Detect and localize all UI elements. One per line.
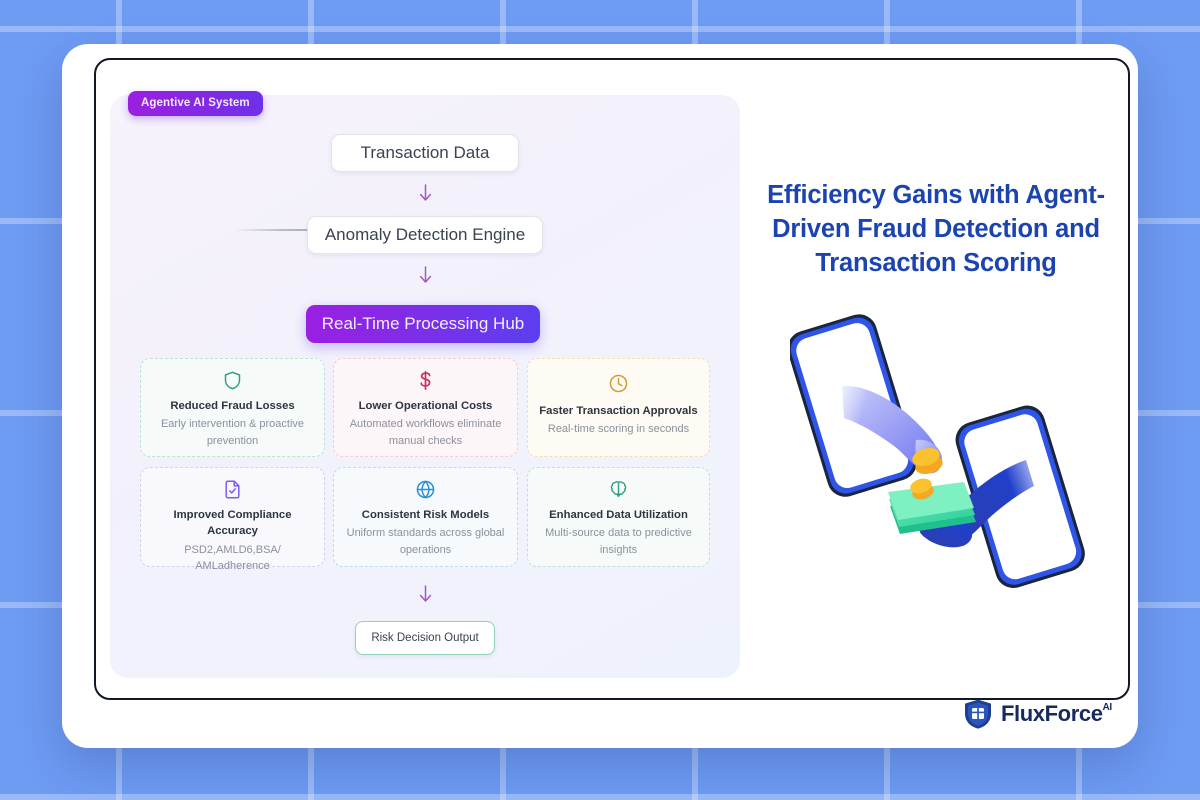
- benefit-card-desc: Automated workflows eliminate manual che…: [343, 416, 508, 449]
- dollar-icon: [415, 370, 436, 391]
- benefit-card-desc: Multi-source data to predictive insights: [537, 525, 700, 558]
- flow-node-label: Anomaly Detection Engine: [325, 225, 525, 245]
- flow-node-anomaly-detection-engine[interactable]: Anomaly Detection Engine: [307, 216, 543, 254]
- benefit-card-title: Reduced Fraud Losses: [170, 398, 294, 414]
- brain-icon: [608, 479, 629, 500]
- benefit-card-desc: Uniform standards across global operatio…: [343, 525, 508, 558]
- brand-superscript: AI: [1103, 702, 1112, 713]
- connector-line: [234, 229, 318, 231]
- benefit-card-enhanced-data-utilization[interactable]: Enhanced Data Utilization Multi-source d…: [527, 467, 710, 567]
- benefit-card-consistent-risk-models[interactable]: Consistent Risk Models Uniform standards…: [333, 467, 518, 567]
- globe-icon: [415, 479, 436, 500]
- arrow-down-icon-2: [415, 264, 435, 288]
- page-title: Efficiency Gains with Agent-Driven Fraud…: [748, 178, 1124, 280]
- shield-icon: [222, 370, 243, 391]
- benefit-card-title: Consistent Risk Models: [362, 507, 489, 523]
- brand-logo: FluxForce AI: [963, 698, 1112, 730]
- benefit-card-title: Lower Operational Costs: [359, 398, 493, 414]
- two-phones-hands-exchanging-money-illustration: [790, 300, 1090, 590]
- benefit-card-lower-operational-costs[interactable]: Lower Operational Costs Automated workfl…: [333, 358, 518, 457]
- flow-node-real-time-processing-hub[interactable]: Real-Time Processing Hub: [306, 305, 540, 343]
- shield-icon: [963, 698, 993, 730]
- flow-node-label: Transaction Data: [361, 143, 490, 163]
- arrow-down-icon-3: [415, 583, 435, 607]
- benefit-card-title: Enhanced Data Utilization: [549, 507, 688, 523]
- brand-name: FluxForce: [1001, 701, 1103, 727]
- benefit-card-title: Faster Transaction Approvals: [539, 403, 697, 419]
- benefit-card-desc: Early intervention & proactive preventio…: [150, 416, 315, 449]
- flow-node-label: Real-Time Processing Hub: [322, 314, 525, 334]
- panel-badge: Agentive AI System: [128, 91, 263, 116]
- document-check-icon: [222, 479, 243, 500]
- flow-node-risk-decision-output[interactable]: Risk Decision Output: [355, 621, 495, 655]
- benefit-card-title: Improved Compliance Accuracy: [150, 507, 315, 540]
- benefit-card-desc: PSD2,AMLD6,BSA/ AMLadherence: [150, 542, 315, 575]
- benefit-card-faster-transaction-approvals[interactable]: Faster Transaction Approvals Real-time s…: [527, 358, 710, 457]
- benefit-card-reduced-fraud-losses[interactable]: Reduced Fraud Losses Early intervention …: [140, 358, 325, 457]
- flow-node-label: Risk Decision Output: [371, 632, 478, 644]
- benefit-card-improved-compliance-accuracy[interactable]: Improved Compliance Accuracy PSD2,AMLD6,…: [140, 467, 325, 567]
- arrow-down-icon-1: [415, 182, 435, 206]
- flow-node-transaction-data[interactable]: Transaction Data: [331, 134, 519, 172]
- clock-icon: [608, 370, 629, 396]
- benefit-card-desc: Real-time scoring in seconds: [548, 421, 689, 438]
- brand-wordmark: FluxForce AI: [1001, 701, 1112, 727]
